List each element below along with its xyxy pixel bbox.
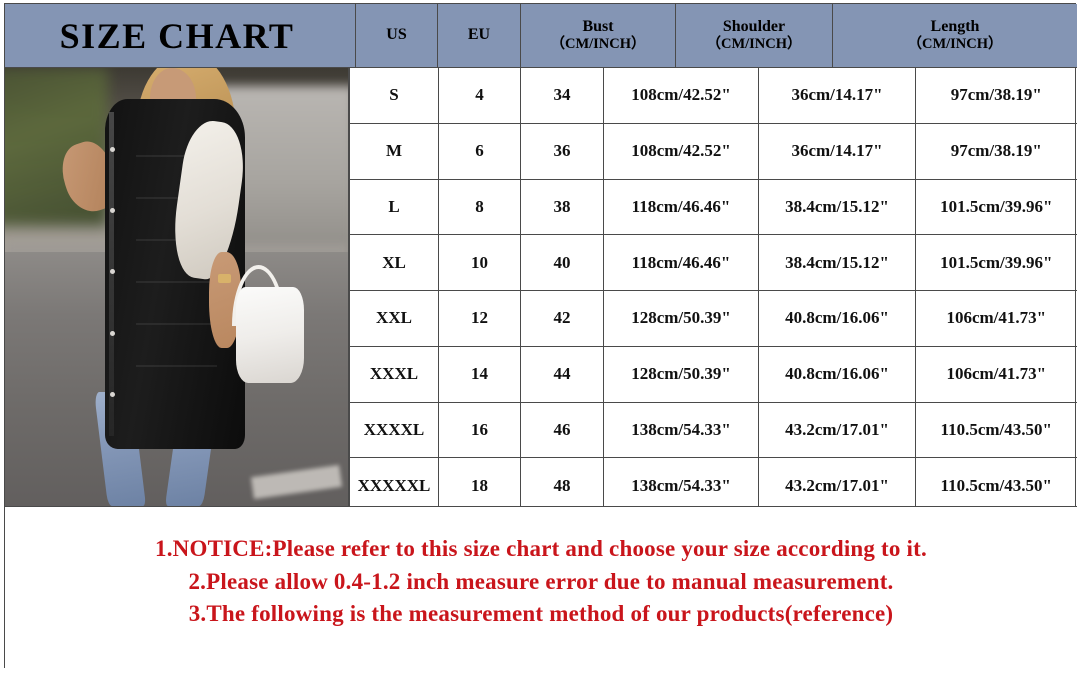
cell-bust: 128cm/50.39"	[604, 346, 759, 402]
cell-length: 110.5cm/43.50"	[916, 402, 1077, 458]
column-header-bust-label: Bust	[582, 18, 613, 37]
table-row: XXXXL 16 46 138cm/54.33" 43.2cm/17.01" 1…	[350, 402, 1077, 458]
cell-eu: 44	[521, 346, 604, 402]
cell-shoulder: 40.8cm/16.06"	[759, 291, 916, 347]
cell-length: 110.5cm/43.50"	[916, 458, 1077, 513]
cell-shoulder: 43.2cm/17.01"	[759, 458, 916, 513]
table-row: XXXXXL 18 48 138cm/54.33" 43.2cm/17.01" …	[350, 458, 1077, 513]
cell-shoulder: 40.8cm/16.06"	[759, 346, 916, 402]
cell-shoulder: 38.4cm/15.12"	[759, 179, 916, 235]
table-row: S 4 34 108cm/42.52" 36cm/14.17" 97cm/38.…	[350, 68, 1077, 123]
cell-eu: 48	[521, 458, 604, 513]
column-header-bust: Bust （CM/INCH）	[521, 4, 676, 67]
notice-block: 1.NOTICE:Please refer to this size chart…	[5, 506, 1077, 669]
cell-length: 97cm/38.19"	[916, 68, 1077, 123]
cell-size: XXXL	[350, 346, 439, 402]
table-row: M 6 36 108cm/42.52" 36cm/14.17" 97cm/38.…	[350, 123, 1077, 179]
product-photo	[5, 68, 349, 506]
cell-bust: 138cm/54.33"	[604, 458, 759, 513]
cell-eu: 40	[521, 235, 604, 291]
photo-model	[60, 68, 286, 506]
notice-line-2: 2.Please allow 0.4-1.2 inch measure erro…	[5, 566, 1077, 599]
cell-size: L	[350, 179, 439, 235]
table-row: XXXL 14 44 128cm/50.39" 40.8cm/16.06" 10…	[350, 346, 1077, 402]
column-header-length-label: Length	[931, 18, 980, 37]
table-header-row: SIZE CHART US EU Bust （CM/INCH） Shoulder…	[5, 4, 1077, 68]
cell-eu: 38	[521, 179, 604, 235]
column-header-length-unit: （CM/INCH）	[907, 36, 1002, 53]
cell-length: 101.5cm/39.96"	[916, 235, 1077, 291]
cell-shoulder: 38.4cm/15.12"	[759, 235, 916, 291]
column-header-eu: EU	[438, 4, 521, 67]
cell-eu: 34	[521, 68, 604, 123]
cell-length: 106cm/41.73"	[916, 346, 1077, 402]
cell-size: XXXXL	[350, 402, 439, 458]
column-header-shoulder-unit: （CM/INCH）	[706, 36, 801, 53]
cell-bust: 118cm/46.46"	[604, 235, 759, 291]
cell-length: 97cm/38.19"	[916, 123, 1077, 179]
cell-size: S	[350, 68, 439, 123]
cell-bust: 108cm/42.52"	[604, 68, 759, 123]
cell-size: XXXXXL	[350, 458, 439, 513]
page-title: SIZE CHART	[60, 18, 301, 54]
cell-bust: 138cm/54.33"	[604, 402, 759, 458]
cell-size: XXL	[350, 291, 439, 347]
column-header-us-label: US	[386, 26, 406, 45]
column-header-length: Length （CM/INCH）	[833, 4, 1077, 67]
table-row: L 8 38 118cm/46.46" 38.4cm/15.12" 101.5c…	[350, 179, 1077, 235]
cell-us: 4	[439, 68, 521, 123]
cell-eu: 42	[521, 291, 604, 347]
cell-size: M	[350, 123, 439, 179]
cell-bust: 128cm/50.39"	[604, 291, 759, 347]
cell-shoulder: 43.2cm/17.01"	[759, 402, 916, 458]
chart-body: S 4 34 108cm/42.52" 36cm/14.17" 97cm/38.…	[5, 68, 1077, 506]
cell-shoulder: 36cm/14.17"	[759, 68, 916, 123]
cell-us: 12	[439, 291, 521, 347]
chart-title-cell: SIZE CHART	[5, 4, 356, 67]
cell-bust: 108cm/42.52"	[604, 123, 759, 179]
column-header-bust-unit: （CM/INCH）	[550, 36, 645, 53]
size-table: S 4 34 108cm/42.52" 36cm/14.17" 97cm/38.…	[349, 68, 1077, 513]
table-row: XL 10 40 118cm/46.46" 38.4cm/15.12" 101.…	[350, 235, 1077, 291]
column-header-us: US	[356, 4, 438, 67]
cell-us: 16	[439, 402, 521, 458]
cell-us: 18	[439, 458, 521, 513]
cell-eu: 46	[521, 402, 604, 458]
cell-size: XL	[350, 235, 439, 291]
cell-us: 10	[439, 235, 521, 291]
cell-shoulder: 36cm/14.17"	[759, 123, 916, 179]
cell-length: 106cm/41.73"	[916, 291, 1077, 347]
model-watch	[218, 274, 231, 283]
cell-us: 8	[439, 179, 521, 235]
cell-eu: 36	[521, 123, 604, 179]
column-header-shoulder-label: Shoulder	[723, 18, 785, 37]
column-header-shoulder: Shoulder （CM/INCH）	[676, 4, 833, 67]
cell-us: 14	[439, 346, 521, 402]
size-chart-frame: SIZE CHART US EU Bust （CM/INCH） Shoulder…	[4, 3, 1076, 668]
column-header-eu-label: EU	[468, 26, 490, 45]
notice-line-1: 1.NOTICE:Please refer to this size chart…	[5, 533, 1077, 566]
cell-bust: 118cm/46.46"	[604, 179, 759, 235]
cell-us: 6	[439, 123, 521, 179]
photo-scene	[5, 68, 348, 506]
white-handbag	[236, 287, 304, 383]
table-row: XXL 12 42 128cm/50.39" 40.8cm/16.06" 106…	[350, 291, 1077, 347]
cell-length: 101.5cm/39.96"	[916, 179, 1077, 235]
notice-line-3: 3.The following is the measurement metho…	[5, 598, 1077, 631]
vest-snap	[110, 331, 115, 336]
vest-snap	[110, 147, 115, 152]
